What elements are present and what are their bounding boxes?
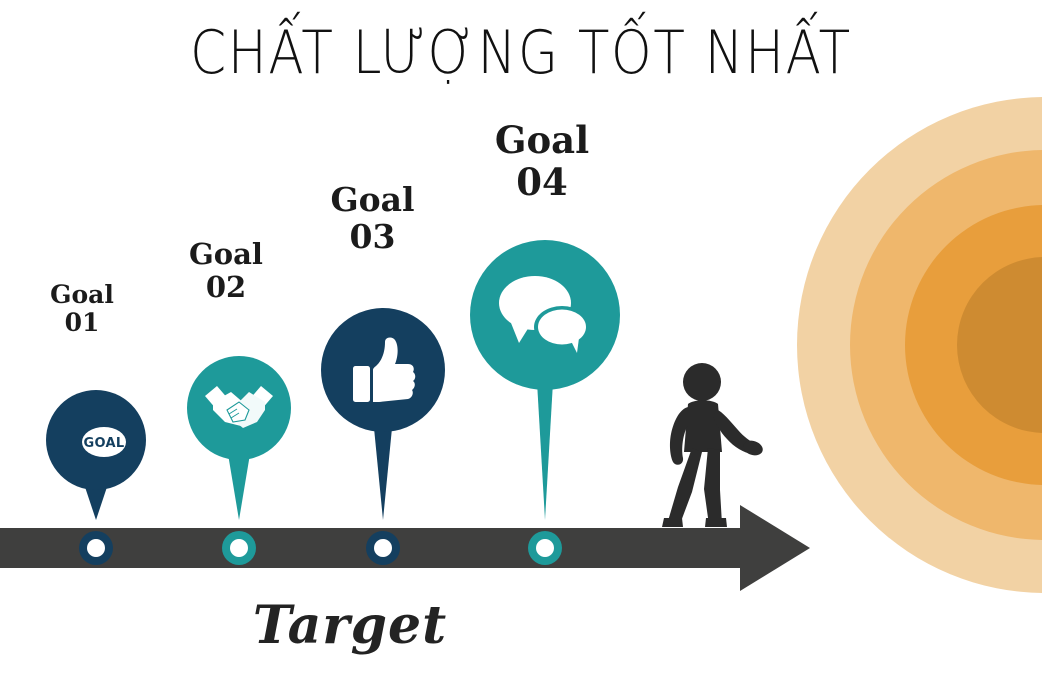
page-title: CHẤT LƯỢNG TỐT NHẤT [73,22,969,85]
pin-tail-goal-04 [537,382,553,520]
milestone-goal-03[interactable] [321,308,445,520]
goal-label-04-line1: Goal [462,120,622,162]
milestone-goal-01[interactable]: GOAL [46,390,146,520]
infographic-canvas: GOAL [0,0,1042,694]
goal-label-03: Goal 03 [305,181,440,256]
marker-goal-03[interactable] [366,531,400,565]
target-caption: Target [150,595,550,656]
goal-label-01: Goal 01 [26,281,138,338]
goal-label-04: Goal 04 [462,120,622,204]
infographic-artwork: GOAL [0,0,1042,694]
marker-goal-01[interactable] [79,531,113,565]
goal-label-02-line1: Goal [163,238,289,271]
goal-label-03-line2: 03 [305,218,440,255]
goal-label-02: Goal 02 [163,238,289,304]
marker-goal-02[interactable] [222,531,256,565]
marker-goal-04[interactable] [528,531,562,565]
goal-label-02-line2: 02 [163,271,289,304]
milestone-goal-04[interactable] [470,240,620,520]
goal-label-01-line1: Goal [26,281,138,309]
timeline-arrow [0,505,810,591]
goal-label-03-line1: Goal [305,181,440,218]
svg-text:GOAL: GOAL [84,436,125,451]
goal-label-04-line2: 04 [462,162,622,204]
milestone-goal-02[interactable] [187,356,291,520]
pin-tail-goal-03 [374,428,392,520]
arrow-head-icon [740,505,810,591]
walking-person-icon [662,363,765,527]
concentric-target-graphic [797,97,1042,593]
goal-label-01-line2: 01 [26,309,138,337]
